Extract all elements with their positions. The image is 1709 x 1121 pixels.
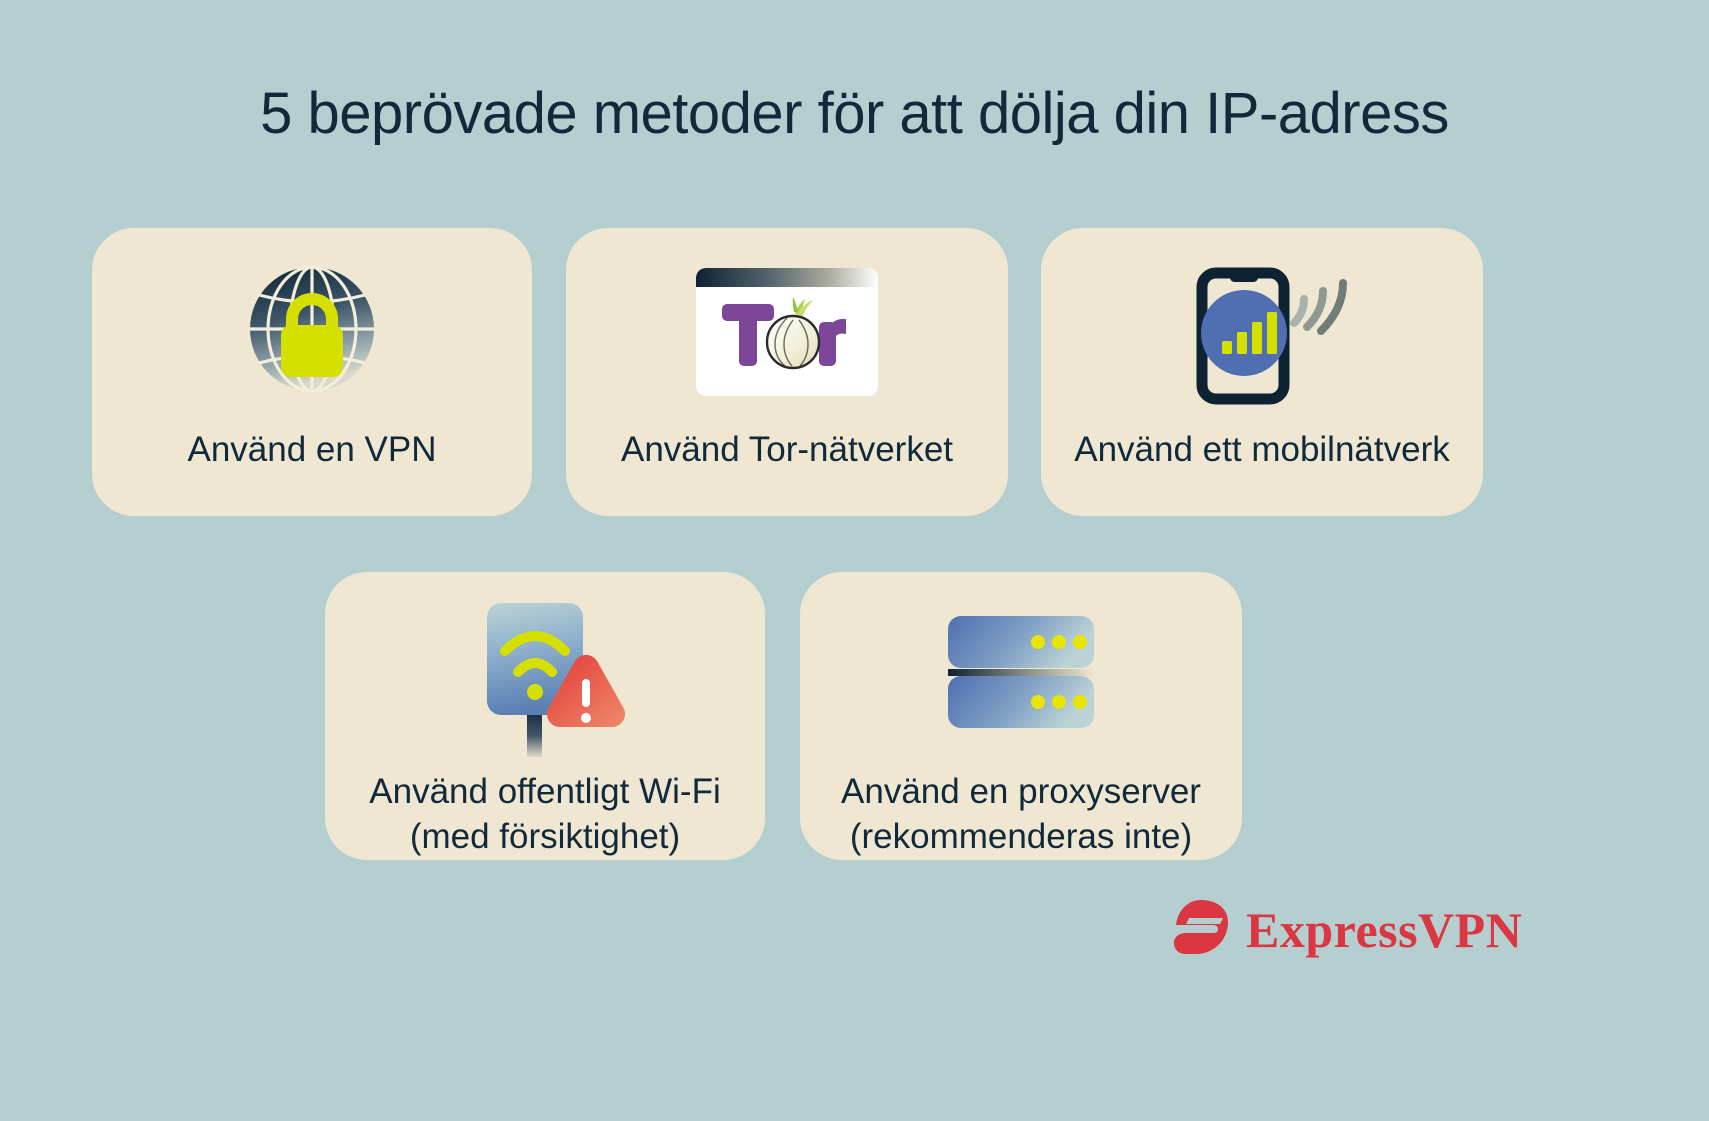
brand-name: ExpressVPN xyxy=(1246,901,1522,959)
page-title: 5 beprövade metoder för att dölja din IP… xyxy=(0,80,1709,147)
globe-with-padlock-icon xyxy=(237,256,387,408)
card-use-proxy-server: Använd en proxyserver (rekommenderas int… xyxy=(800,572,1242,860)
card-label: Använd ett mobilnätverk xyxy=(1074,428,1449,473)
smartphone-signal-icon xyxy=(1176,256,1348,408)
card-label: Använd Tor-nätverket xyxy=(621,428,953,473)
card-use-tor-network: Använd Tor-nätverket xyxy=(566,228,1008,516)
card-label: Använd en proxyserver xyxy=(841,770,1201,815)
card-use-public-wifi: Använd offentligt Wi-Fi (med försiktighe… xyxy=(325,572,765,860)
card-use-a-vpn: Använd en VPN xyxy=(92,228,532,516)
tor-browser-window-icon xyxy=(696,256,878,408)
proxy-server-stack-icon xyxy=(946,594,1096,758)
infographic-page: 5 beprövade metoder för att dölja din IP… xyxy=(0,0,1709,1121)
card-label-secondary: (rekommenderas inte) xyxy=(850,815,1192,860)
expressvpn-logo: ExpressVPN xyxy=(1170,898,1522,961)
card-label-secondary: (med försiktighet) xyxy=(410,815,680,860)
expressvpn-e-mark-icon xyxy=(1170,898,1232,961)
card-use-mobile-network: Använd ett mobilnätverk xyxy=(1041,228,1483,516)
card-label: Använd en VPN xyxy=(187,428,436,473)
public-wifi-warning-icon xyxy=(465,594,625,758)
card-label: Använd offentligt Wi-Fi xyxy=(369,770,720,815)
signal-waves xyxy=(1294,283,1343,331)
